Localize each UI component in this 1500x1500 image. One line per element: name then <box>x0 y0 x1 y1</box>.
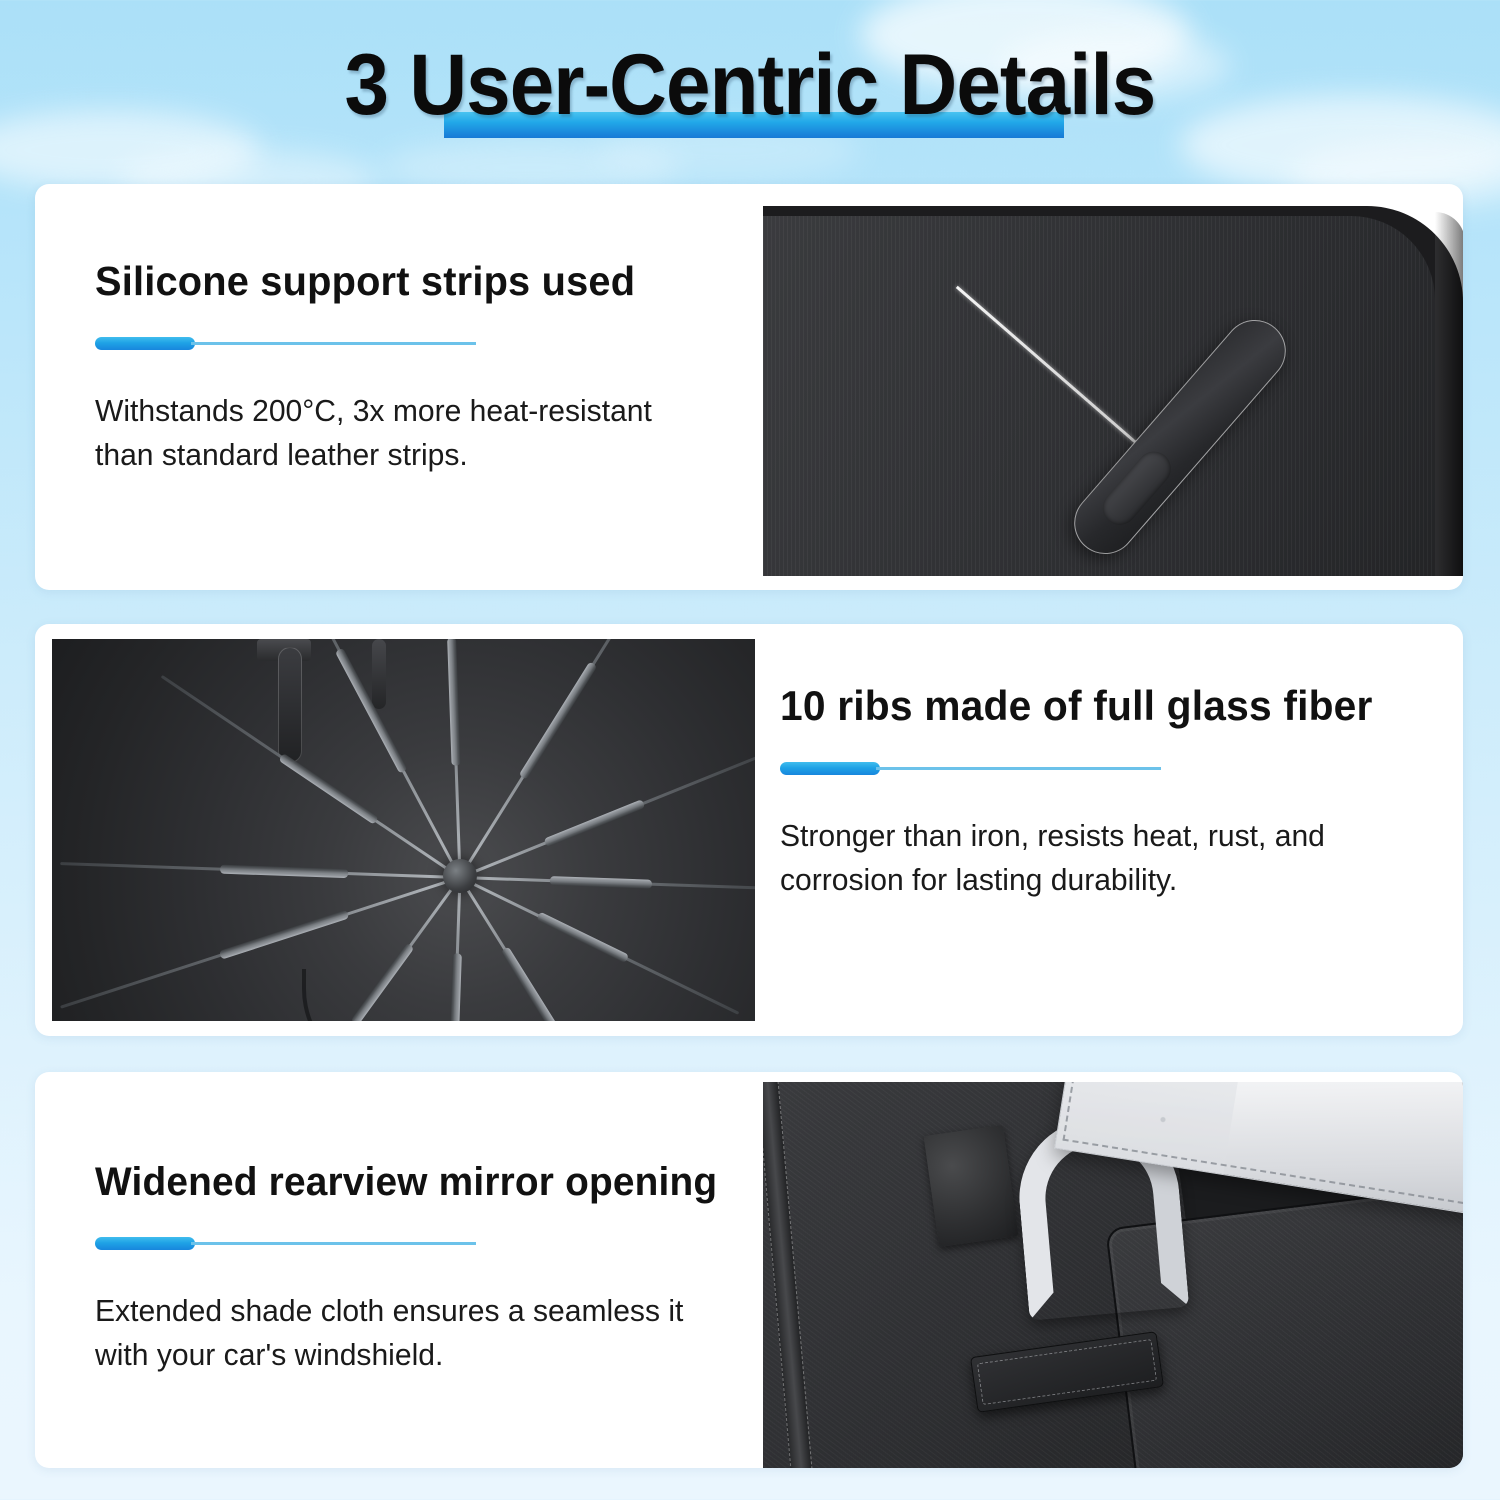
feature-image-silicone-strip <box>763 198 1463 576</box>
feature-card-mirror-opening: Widened rearview mirror opening Extended… <box>35 1072 1463 1468</box>
divider-thick-segment <box>95 1237 195 1250</box>
feature-heading: 10 ribs made of full glass fiber <box>780 682 1430 730</box>
page-title-container: 3 User-Centric Details <box>0 40 1500 130</box>
feature-image-mirror-opening <box>763 1082 1463 1468</box>
feature-card-text-silicone: Silicone support strips used Withstands … <box>95 184 715 590</box>
umbrella-canopy-interior <box>52 639 755 1021</box>
velcro-patch <box>924 1125 1019 1247</box>
divider-thin-segment <box>191 342 476 345</box>
feature-body-text: Extended shade cloth ensures a seamless … <box>95 1289 735 1377</box>
divider-thick-segment <box>780 762 880 775</box>
umbrella-center-hub <box>443 859 477 893</box>
umbrella-rib <box>60 862 460 879</box>
feature-image-umbrella-ribs <box>52 639 755 1021</box>
sunshade-corner-shape <box>763 206 1463 576</box>
feature-card-glass-fiber-ribs: 10 ribs made of full glass fiber Stronge… <box>35 624 1463 1036</box>
umbrella-cord <box>302 969 412 1021</box>
accent-divider <box>95 335 715 351</box>
feature-card-text-mirror: Widened rearview mirror opening Extended… <box>95 1072 755 1468</box>
accent-divider <box>780 760 1450 776</box>
feature-card-text-ribs: 10 ribs made of full glass fiber Stronge… <box>780 624 1450 1036</box>
umbrella-rib <box>449 877 461 1021</box>
umbrella-rib <box>458 639 683 878</box>
page-title: 3 User-Centric Details <box>345 40 1156 130</box>
canopy-hanging-strap <box>278 647 302 763</box>
umbrella-rib <box>460 876 755 890</box>
divider-thick-segment <box>95 337 195 350</box>
panel-seam <box>763 1082 814 1468</box>
feature-card-silicone-strips: Silicone support strips used Withstands … <box>35 184 1463 590</box>
feature-heading: Widened rearview mirror opening <box>95 1160 735 1205</box>
divider-thin-segment <box>876 767 1161 770</box>
umbrella-rib <box>444 639 461 877</box>
feature-body-text: Withstands 200°C, 3x more heat-resistant… <box>95 389 696 477</box>
feature-body-text: Stronger than iron, resists heat, rust, … <box>780 814 1430 902</box>
sunshade-panels-scene <box>763 1082 1463 1468</box>
canopy-hanging-strap-secondary <box>372 639 386 709</box>
sunshade-edge-binding <box>1435 212 1463 576</box>
umbrella-rib <box>459 752 755 878</box>
feature-heading: Silicone support strips used <box>95 258 696 305</box>
umbrella-rib <box>160 675 460 879</box>
divider-thin-segment <box>191 1242 476 1245</box>
accent-divider <box>95 1235 755 1251</box>
